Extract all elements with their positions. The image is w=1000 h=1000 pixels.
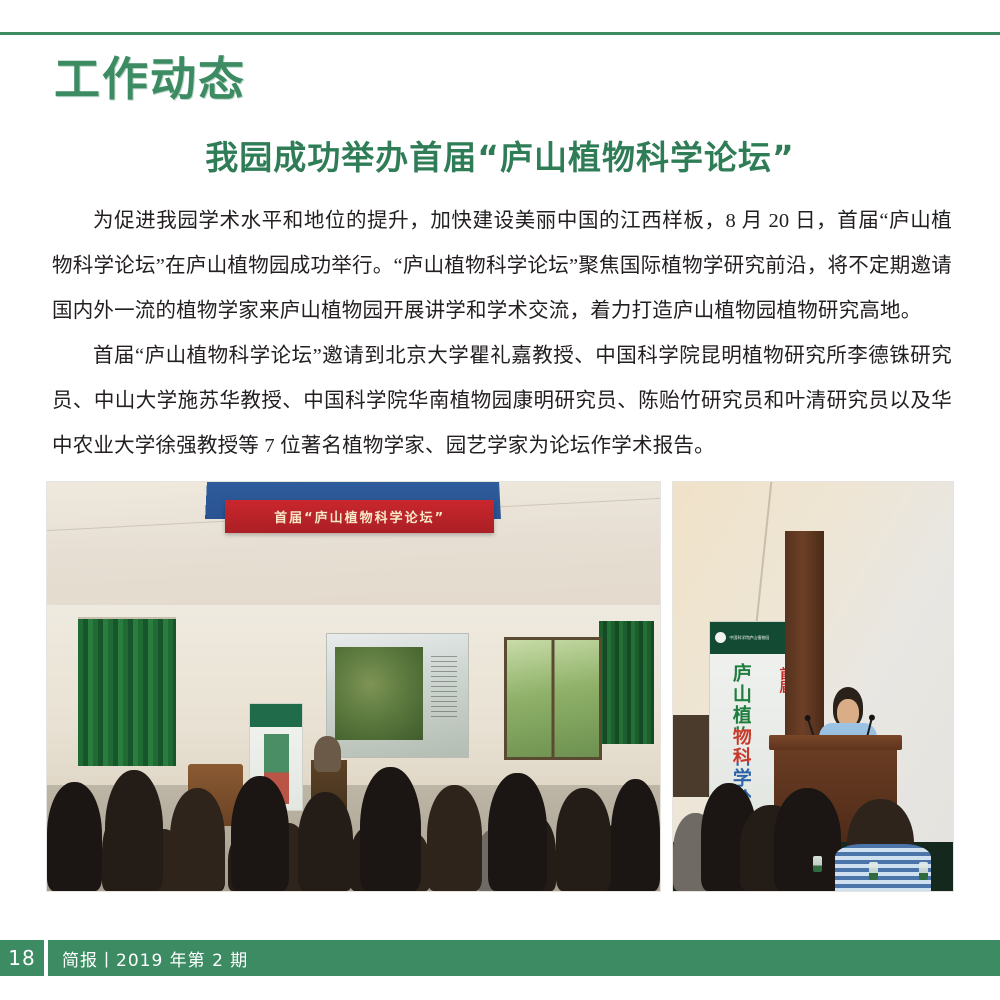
photo-keynote-speaker: 中国科学院庐山植物园 庐山植物科学论 首届 2019.8 xyxy=(672,481,954,892)
photo-conference-hall: 首届“庐山植物科学论坛” xyxy=(46,481,661,892)
page-footer: 18 简报丨2019 年第 2 期 xyxy=(0,940,1000,976)
speaker-audience xyxy=(673,752,953,891)
hall-green-curtain-right xyxy=(599,621,654,744)
footer-page-number: 18 xyxy=(0,946,44,970)
article-headline: 我园成功举办首届“庐山植物科学论坛” xyxy=(0,136,1000,180)
banner-organization-name: 中国科学院庐山植物园 xyxy=(729,635,769,640)
speaker-wooden-column xyxy=(785,531,824,760)
section-heading: 工作动态 xyxy=(54,50,246,108)
article-paragraph-1: 为促进我园学术水平和地位的提升，加快建设美丽中国的江西样板，8 月 20 日，首… xyxy=(52,199,952,334)
photo-strip: 首届“庐山植物科学论坛” xyxy=(46,481,954,892)
article-paragraph-2: 首届“庐山植物科学论坛”邀请到北京大学瞿礼嘉教授、中国科学院昆明植物研究所李德铢… xyxy=(52,334,952,469)
top-divider-rule xyxy=(0,32,1000,35)
article-body: 为促进我园学术水平和地位的提升，加快建设美丽中国的江西样板，8 月 20 日，首… xyxy=(52,199,952,469)
hall-red-banner: 首届“庐山植物科学论坛” xyxy=(225,500,495,533)
lushan-garden-logo-icon xyxy=(715,632,726,643)
hall-banner-text: 首届“庐山植物科学论坛” xyxy=(274,507,445,526)
footer-publication-title: 简报丨2019 年第 2 期 xyxy=(48,946,248,971)
document-page: 工作动态 我园成功举办首届“庐山植物科学论坛” 为促进我园学术水平和地位的提升，… xyxy=(0,0,1000,1000)
hall-audience xyxy=(47,736,660,891)
